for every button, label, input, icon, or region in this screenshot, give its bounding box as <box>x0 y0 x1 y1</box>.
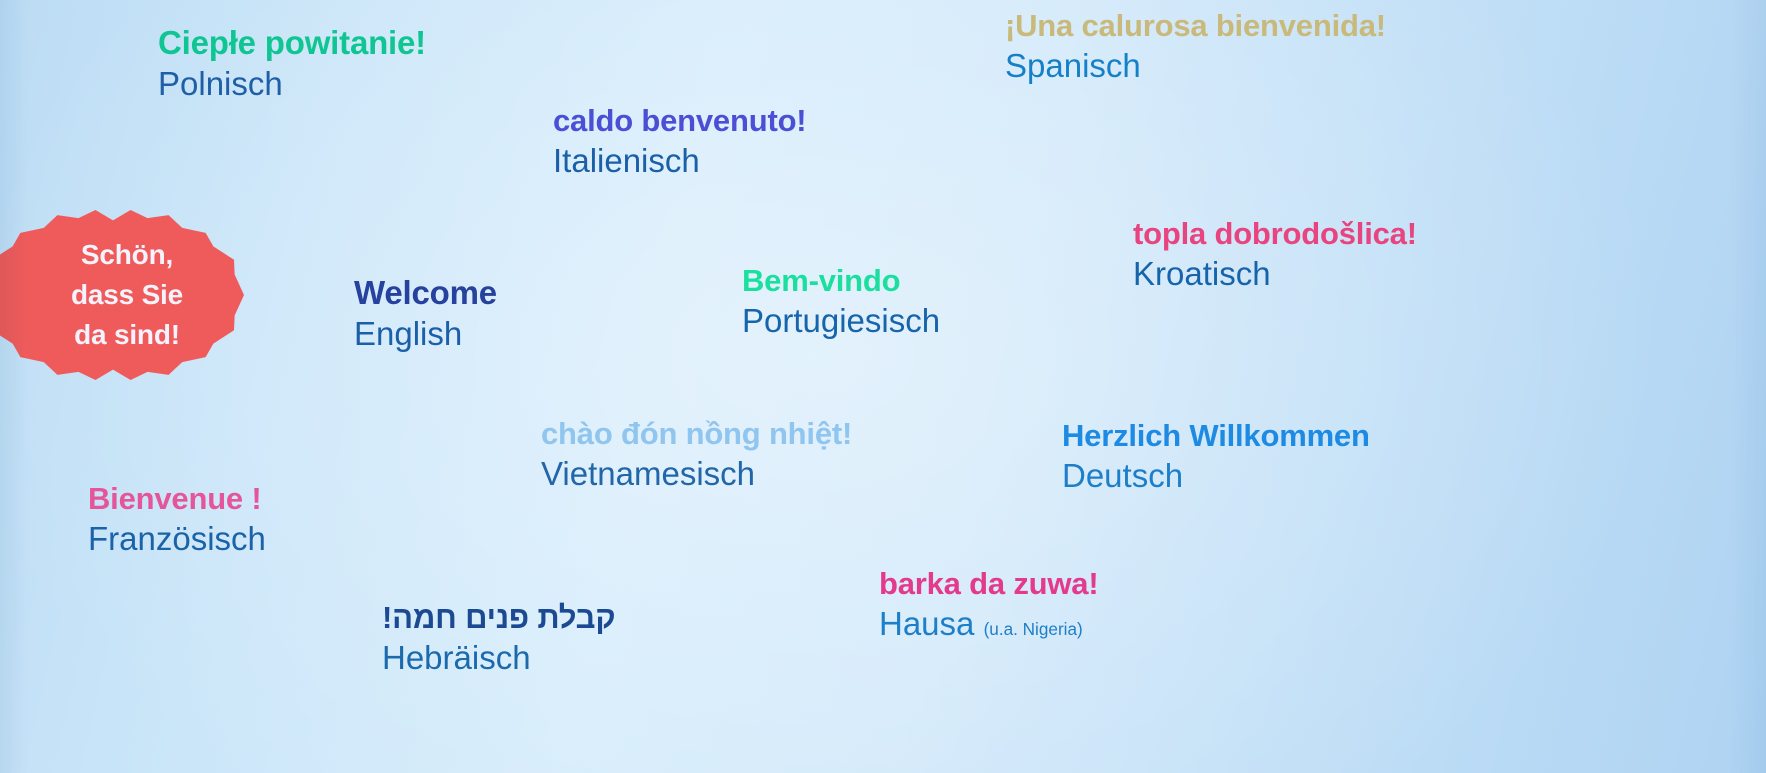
greeting-text-french: Bienvenue ! <box>88 483 266 516</box>
badge-line-1: Schön, <box>71 235 183 275</box>
greeting-entry-english: Welcome English <box>354 276 497 351</box>
greeting-text-italian: caldo benvenuto! <box>553 105 806 138</box>
language-label-german: Deutsch <box>1062 459 1370 494</box>
welcome-slide: Schön, dass Sie da sind! Ciepłe powitani… <box>0 0 1766 773</box>
badge-line-3: da sind! <box>71 315 183 355</box>
greeting-text-english: Welcome <box>354 276 497 311</box>
language-label-english: English <box>354 317 497 352</box>
language-label-polish: Polnisch <box>158 67 426 102</box>
greeting-entry-vietnamese: chào đón nồng nhiệt! Vietnamesisch <box>541 418 852 491</box>
greeting-text-croatian: topla dobrodošlica! <box>1133 218 1417 251</box>
language-label-portuguese: Portugiesisch <box>742 304 940 339</box>
greeting-text-vietnamese: chào đón nồng nhiệt! <box>541 418 852 451</box>
starburst-badge: Schön, dass Sie da sind! <box>0 168 244 422</box>
language-note-hausa: (u.a. Nigeria) <box>984 619 1083 639</box>
greeting-text-german: Herzlich Willkommen <box>1062 420 1370 453</box>
language-label-spanish: Spanisch <box>1005 49 1386 84</box>
badge-text: Schön, dass Sie da sind! <box>71 235 183 354</box>
greeting-text-spanish: ¡Una calurosa bienvenida! <box>1005 10 1386 43</box>
greeting-text-portuguese: Bem-vindo <box>742 265 940 298</box>
language-label-vietnamese: Vietnamesisch <box>541 457 852 492</box>
language-name-hausa: Hausa <box>879 605 974 642</box>
language-label-french: Französisch <box>88 522 266 557</box>
greeting-entry-hausa: barka da zuwa! Hausa (u.a. Nigeria) <box>879 568 1098 641</box>
greeting-text-hebrew: קבלת פנים חמה! <box>382 602 615 635</box>
language-label-italian: Italienisch <box>553 144 806 179</box>
greeting-text-polish: Ciepłe powitanie! <box>158 26 426 61</box>
greeting-entry-portuguese: Bem-vindo Portugiesisch <box>742 265 940 338</box>
language-label-hausa: Hausa (u.a. Nigeria) <box>879 607 1098 642</box>
greeting-entry-spanish: ¡Una calurosa bienvenida! Spanisch <box>1005 10 1386 83</box>
language-label-hebrew: Hebräisch <box>382 641 615 676</box>
greeting-entry-hebrew: קבלת פנים חמה! Hebräisch <box>382 602 615 675</box>
greeting-entry-french: Bienvenue ! Französisch <box>88 483 266 556</box>
greeting-entry-italian: caldo benvenuto! Italienisch <box>553 105 806 178</box>
greeting-entry-polish: Ciepłe powitanie! Polnisch <box>158 26 426 101</box>
language-label-croatian: Kroatisch <box>1133 257 1417 292</box>
greeting-entry-croatian: topla dobrodošlica! Kroatisch <box>1133 218 1417 291</box>
greeting-text-hausa: barka da zuwa! <box>879 568 1098 601</box>
badge-line-2: dass Sie <box>71 275 183 315</box>
greeting-entry-german: Herzlich Willkommen Deutsch <box>1062 420 1370 493</box>
